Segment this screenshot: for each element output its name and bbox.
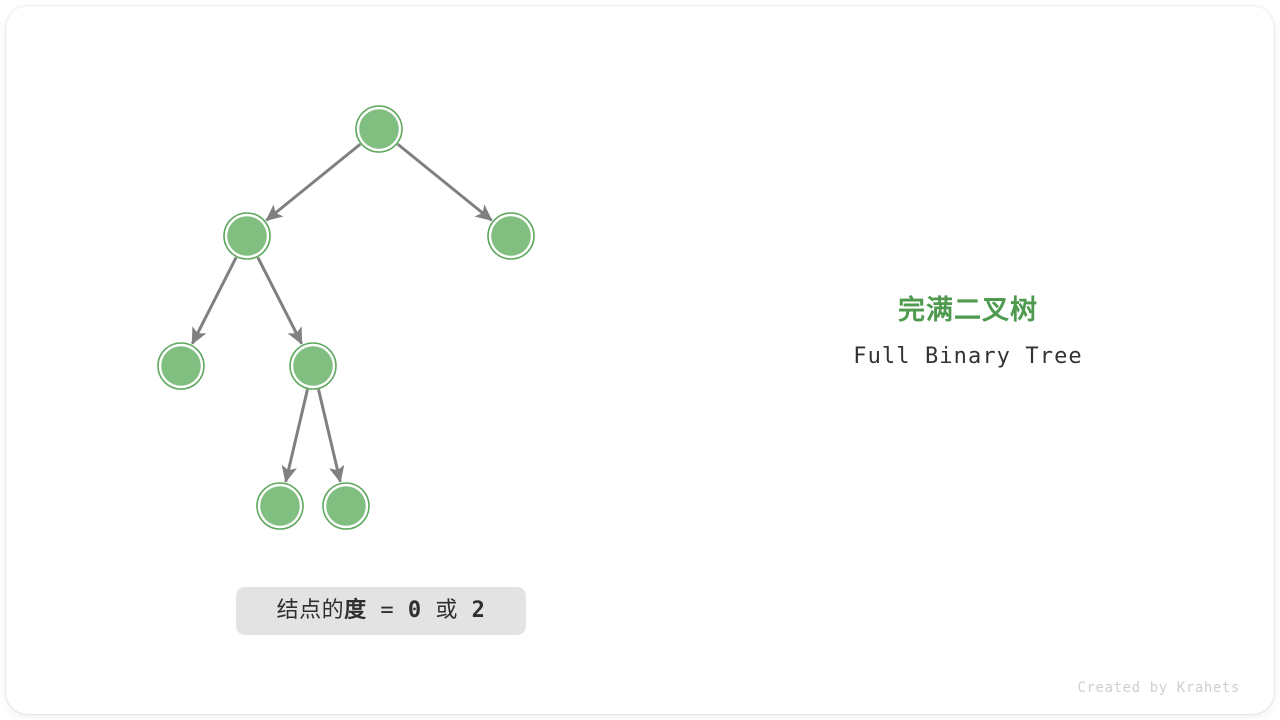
tree-edge-root-to-n-l <box>266 144 360 220</box>
caption-segment-1: 度 <box>344 598 367 623</box>
node-body <box>293 346 333 386</box>
caption-segment-0: 结点的 <box>277 598 345 623</box>
tree-edge-root-to-n-r <box>398 144 492 220</box>
caption-badge: 结点的度 = 0 或 2 <box>236 587 526 635</box>
tree-node-n-lrr[interactable] <box>323 483 369 529</box>
caption-segment-3: 0 <box>408 598 422 623</box>
diagram-stage: 结点的度 = 0 或 2 完满二叉树 Full Binary Tree Crea… <box>0 0 1280 720</box>
node-body <box>161 346 201 386</box>
tree-node-n-lr[interactable] <box>290 343 336 389</box>
caption-segment-4: 或 <box>422 598 472 623</box>
tree-node-root[interactable] <box>356 106 402 152</box>
tree-edge-n-lr-to-n-lrr <box>319 389 341 481</box>
caption-text: 结点的度 = 0 或 2 <box>277 600 486 622</box>
label-block: 完满二叉树 Full Binary Tree <box>768 296 1168 369</box>
title-chinese: 完满二叉树 <box>768 296 1168 326</box>
node-body <box>359 109 399 149</box>
caption-segment-2: = <box>367 598 408 623</box>
tree-node-n-l[interactable] <box>224 213 270 259</box>
tree-node-n-ll[interactable] <box>158 343 204 389</box>
tree-node-n-lrl[interactable] <box>257 483 303 529</box>
caption-segment-5: 2 <box>472 598 486 623</box>
title-english: Full Binary Tree <box>768 345 1168 369</box>
tree-edge-n-l-to-n-ll <box>192 257 236 343</box>
tree-nodes <box>158 106 534 529</box>
tree-edges <box>192 144 491 482</box>
node-body <box>227 216 267 256</box>
node-body <box>491 216 531 256</box>
node-body <box>260 486 300 526</box>
tree-node-n-r[interactable] <box>488 213 534 259</box>
tree-edge-n-lr-to-n-lrl <box>286 389 308 481</box>
tree-edge-n-l-to-n-lr <box>258 257 302 343</box>
node-body <box>326 486 366 526</box>
credit-text: Created by Krahets <box>1077 681 1240 695</box>
